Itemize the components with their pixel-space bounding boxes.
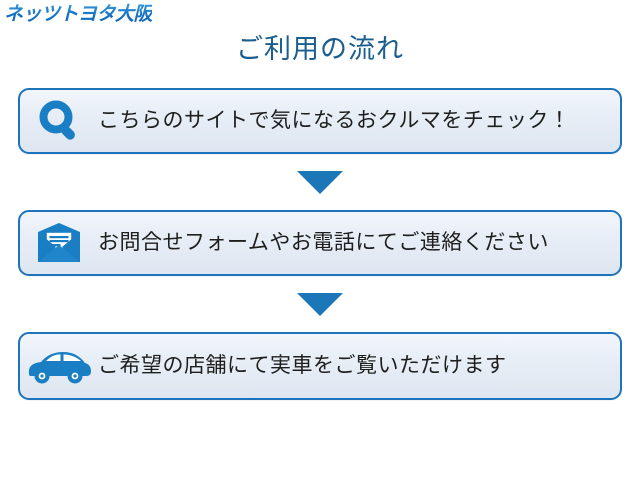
flow-arrow-1	[18, 154, 622, 210]
flow-arrow-2	[18, 276, 622, 332]
flow-step-3: ご希望の店舗にて実車をご覧いただけます	[18, 332, 622, 400]
magnifying-glass-icon	[20, 90, 98, 152]
car-side-icon	[20, 334, 98, 398]
flow-step-1: こちらのサイトで気になるおクルマをチェック！	[18, 88, 622, 154]
flow-step-2-label: お問合せフォームやお電話にてご連絡ください	[98, 231, 549, 254]
envelope-mail-icon	[20, 212, 98, 274]
flow-step-3-label: ご希望の店舗にて実車をご覧いただけます	[98, 354, 507, 377]
arrow-down-triangle-icon	[297, 171, 343, 194]
flow-step-1-label: こちらのサイトで気になるおクルマをチェック！	[98, 109, 570, 132]
arrow-down-triangle-icon	[297, 293, 343, 316]
flow-steps-container: こちらのサイトで気になるおクルマをチェック！ お問合せフォームやお電話にてご連	[18, 88, 622, 400]
page-title: ご利用の流れ	[0, 31, 640, 67]
brand-logo: ネッツトヨタ大阪	[4, 2, 152, 26]
brand-logo-text: ネッツトヨタ大阪	[4, 2, 152, 26]
flow-step-2: お問合せフォームやお電話にてご連絡ください	[18, 210, 622, 276]
